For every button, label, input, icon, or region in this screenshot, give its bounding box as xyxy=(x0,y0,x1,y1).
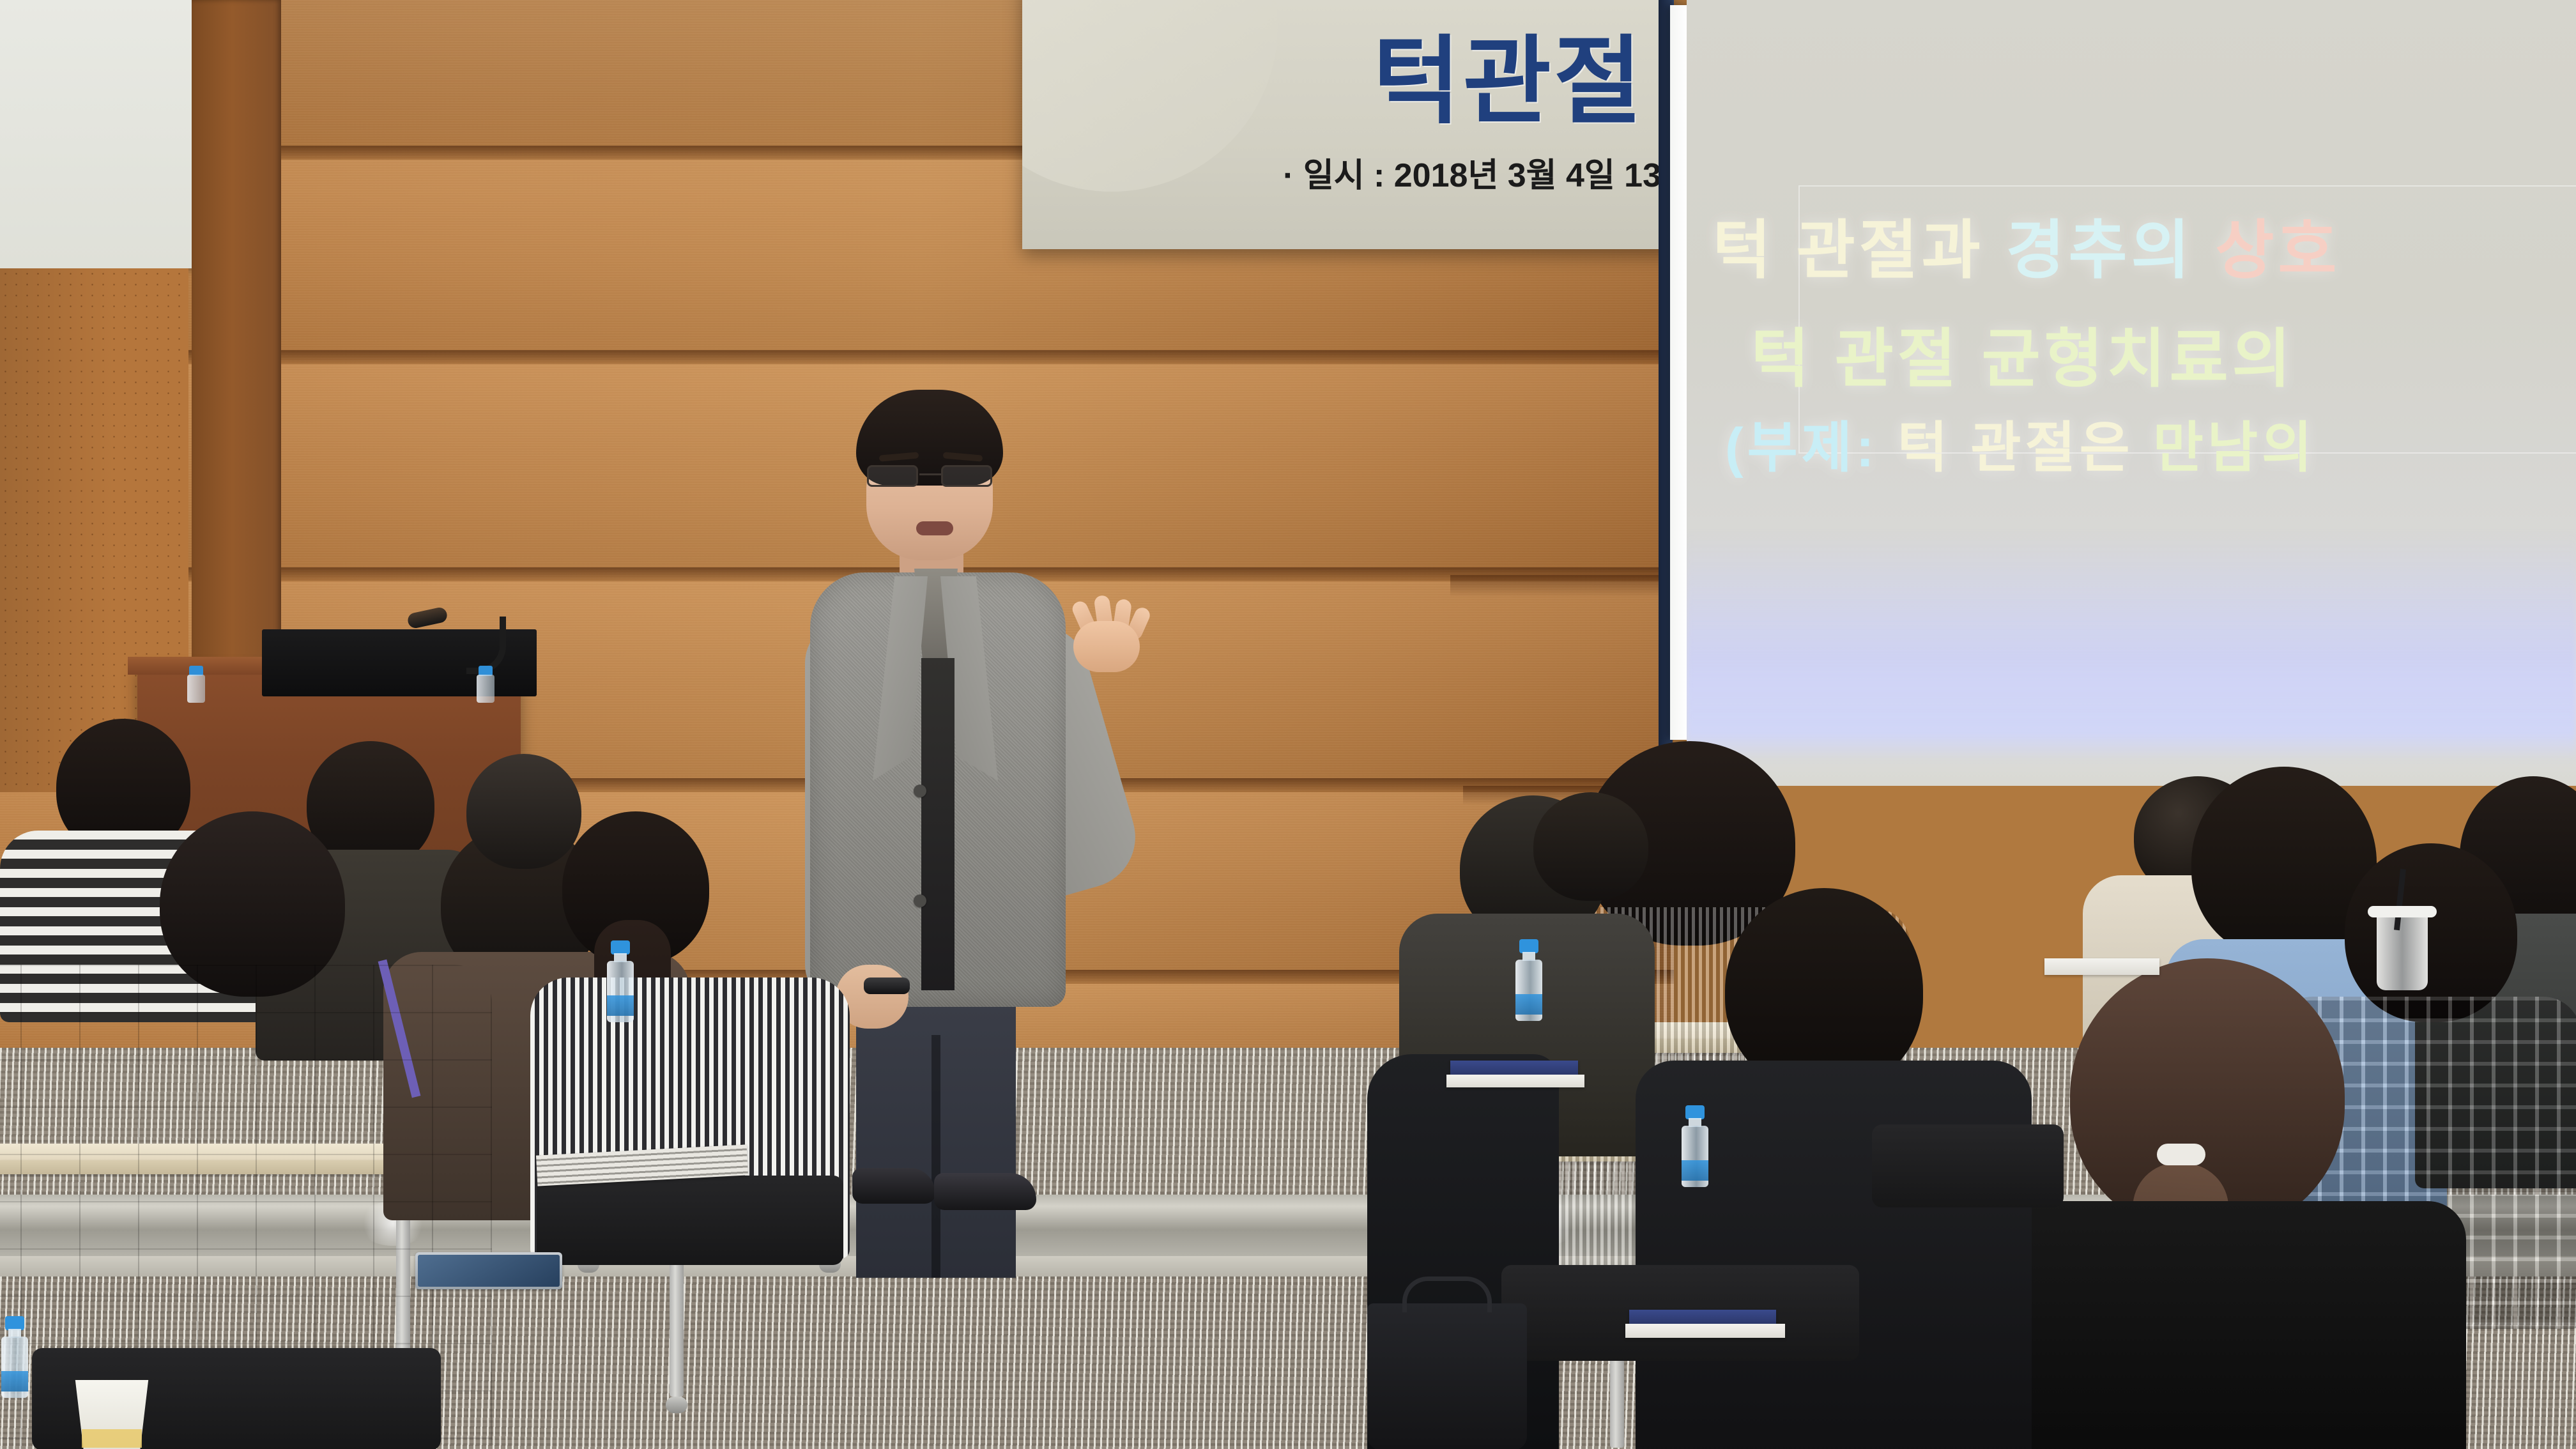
presenter-leg-gap xyxy=(931,1035,940,1278)
slide-segment: (부제: xyxy=(1725,417,1897,479)
white-wall-panel xyxy=(0,0,198,268)
presenter-jacket-opening xyxy=(921,658,954,990)
shoulder-bag xyxy=(1367,1303,1527,1449)
slide-segment: 턱 관절은 xyxy=(1897,417,2152,479)
water-bottle xyxy=(476,666,495,703)
slide-segment: 만남의 xyxy=(2153,417,2316,479)
printed-handout xyxy=(1625,1324,1785,1338)
audience-head xyxy=(1533,792,1648,901)
slide-text-line-1: 턱 관절과 경추의 상호 xyxy=(1712,198,2340,291)
jacket-button xyxy=(914,785,926,797)
banner-date-line: · 일시 : 2018년 3월 4일 13 xyxy=(1112,148,1661,196)
printed-handout xyxy=(1446,1075,1584,1087)
presenter-shoe-right xyxy=(934,1173,1036,1210)
slide-segment: 상호 xyxy=(2215,215,2340,286)
presenter-shoe-left xyxy=(852,1168,935,1204)
hair-tie xyxy=(2157,1144,2205,1165)
tablet-device xyxy=(415,1252,562,1289)
printed-handout xyxy=(2044,958,2159,975)
chair-back xyxy=(537,1176,843,1265)
water-bottle xyxy=(606,940,635,1022)
plastic-cup xyxy=(2377,914,2428,990)
projector-light-glow xyxy=(1687,530,2576,760)
water-bottle xyxy=(1514,939,1544,1021)
paper-cup xyxy=(70,1380,153,1449)
chair-back xyxy=(1872,1124,2064,1207)
water-bottle xyxy=(1680,1105,1710,1187)
cup-lid xyxy=(2368,906,2437,917)
slide-segment: 턱 관절 균형치료의 xyxy=(1751,323,2295,395)
banner-title: 턱관절 xyxy=(1137,4,1648,142)
jacket-button xyxy=(914,894,926,907)
presenter-right-hand xyxy=(1067,599,1156,675)
event-banner: 턱관절 · 일시 : 2018년 3월 4일 13 xyxy=(1022,0,1674,249)
audience-head xyxy=(2345,843,2517,1022)
water-bottle xyxy=(187,666,206,703)
bag-handle xyxy=(1402,1276,1492,1312)
water-bottle xyxy=(0,1316,29,1398)
presentation-clicker xyxy=(864,977,910,994)
wall-slat-offset xyxy=(1450,575,1674,597)
audience-head xyxy=(466,754,581,869)
eyeglasses-icon xyxy=(866,465,993,487)
presenter-mouth xyxy=(916,521,953,535)
lecture-hall-photo: 턱관절 · 일시 : 2018년 3월 4일 13 턱 관절과 경추의 상호 턱… xyxy=(0,0,2576,1449)
slide-text-line-2: 턱 관절 균형치료의 xyxy=(1751,307,2295,399)
projection-screen: 턱 관절과 경추의 상호 턱 관절 균형치료의 (부제: 턱 관절은 만남의 xyxy=(1687,0,2576,786)
slide-segment: 경추의 xyxy=(2006,215,2216,286)
slide-segment: 턱 관절과 xyxy=(1712,215,2006,286)
slide-text-line-3: (부제: 턱 관절은 만남의 xyxy=(1725,402,2316,482)
